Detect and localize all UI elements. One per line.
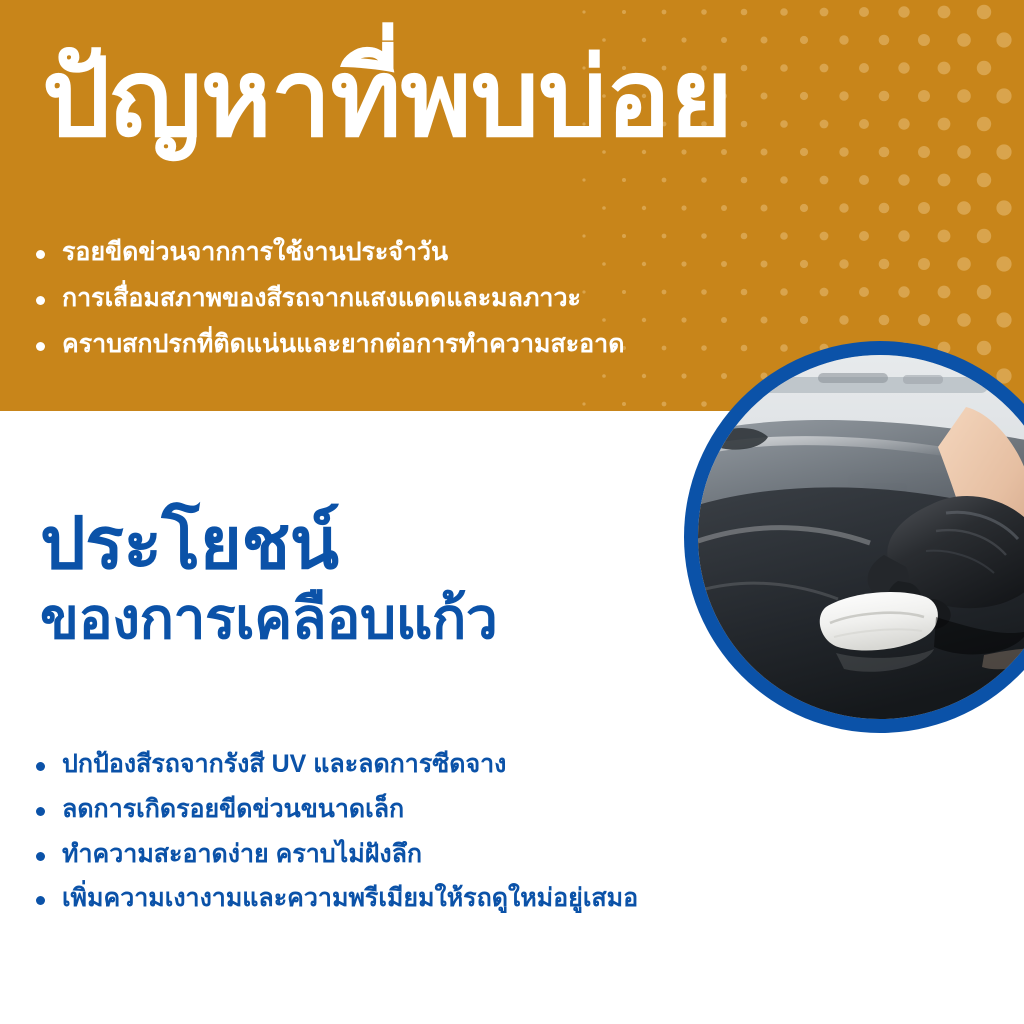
bullet-dot-icon xyxy=(36,250,45,259)
bullet-dot-icon xyxy=(36,296,45,305)
list-item: การเสื่อมสภาพของสีรถจากแสงแดดและมลภาวะ xyxy=(36,282,826,316)
list-item: เพิ่มความเงางามและความพรีเมียมให้รถดูใหม… xyxy=(36,882,866,916)
list-item-label: ลดการเกิดรอยขีดข่วนขนาดเล็ก xyxy=(62,793,404,827)
list-item: ทำความสะอาดง่าย คราบไม่ฝังลึก xyxy=(36,838,866,872)
list-item: รอยขีดข่วนจากการใช้งานประจำวัน xyxy=(36,236,826,270)
benefits-heading-line2: ของการเคลือบแก้ว xyxy=(40,586,497,653)
bullet-dot-icon xyxy=(36,807,45,816)
list-item-label: รอยขีดข่วนจากการใช้งานประจำวัน xyxy=(62,236,448,270)
list-item: คราบสกปรกที่ติดแน่นและยากต่อการทำความสะอ… xyxy=(36,328,826,362)
bullet-dot-icon xyxy=(36,762,45,771)
list-item-label: ทำความสะอาดง่าย คราบไม่ฝังลึก xyxy=(62,838,422,872)
ceramic-coating-photo xyxy=(698,355,1024,719)
problems-bullet-list: รอยขีดข่วนจากการใช้งานประจำวัน การเสื่อม… xyxy=(36,236,826,374)
benefits-heading: ประโยชน์ ของการเคลือบแก้ว xyxy=(40,505,497,653)
bullet-dot-icon xyxy=(36,852,45,861)
list-item-label: เพิ่มความเงางามและความพรีเมียมให้รถดูใหม… xyxy=(62,882,638,916)
list-item: ปกป้องสีรถจากรังสี UV และลดการซีดจาง xyxy=(36,748,866,782)
list-item: ลดการเกิดรอยขีดข่วนขนาดเล็ก xyxy=(36,793,866,827)
list-item-label: ปกป้องสีรถจากรังสี UV และลดการซีดจาง xyxy=(62,748,506,782)
infographic-poster: ปัญหาที่พบบ่อย รอยขีดข่วนจากการใช้งานประ… xyxy=(0,0,1024,1024)
problems-heading: ปัญหาที่พบบ่อย xyxy=(42,34,732,161)
list-item-label: คราบสกปรกที่ติดแน่นและยากต่อการทำความสะอ… xyxy=(62,328,624,362)
benefits-bullet-list: ปกป้องสีรถจากรังสี UV และลดการซีดจาง ลดก… xyxy=(36,748,866,927)
bullet-dot-icon xyxy=(36,342,45,351)
benefits-heading-line1: ประโยชน์ xyxy=(40,505,497,584)
bullet-dot-icon xyxy=(36,896,45,905)
list-item-label: การเสื่อมสภาพของสีรถจากแสงแดดและมลภาวะ xyxy=(62,282,581,316)
